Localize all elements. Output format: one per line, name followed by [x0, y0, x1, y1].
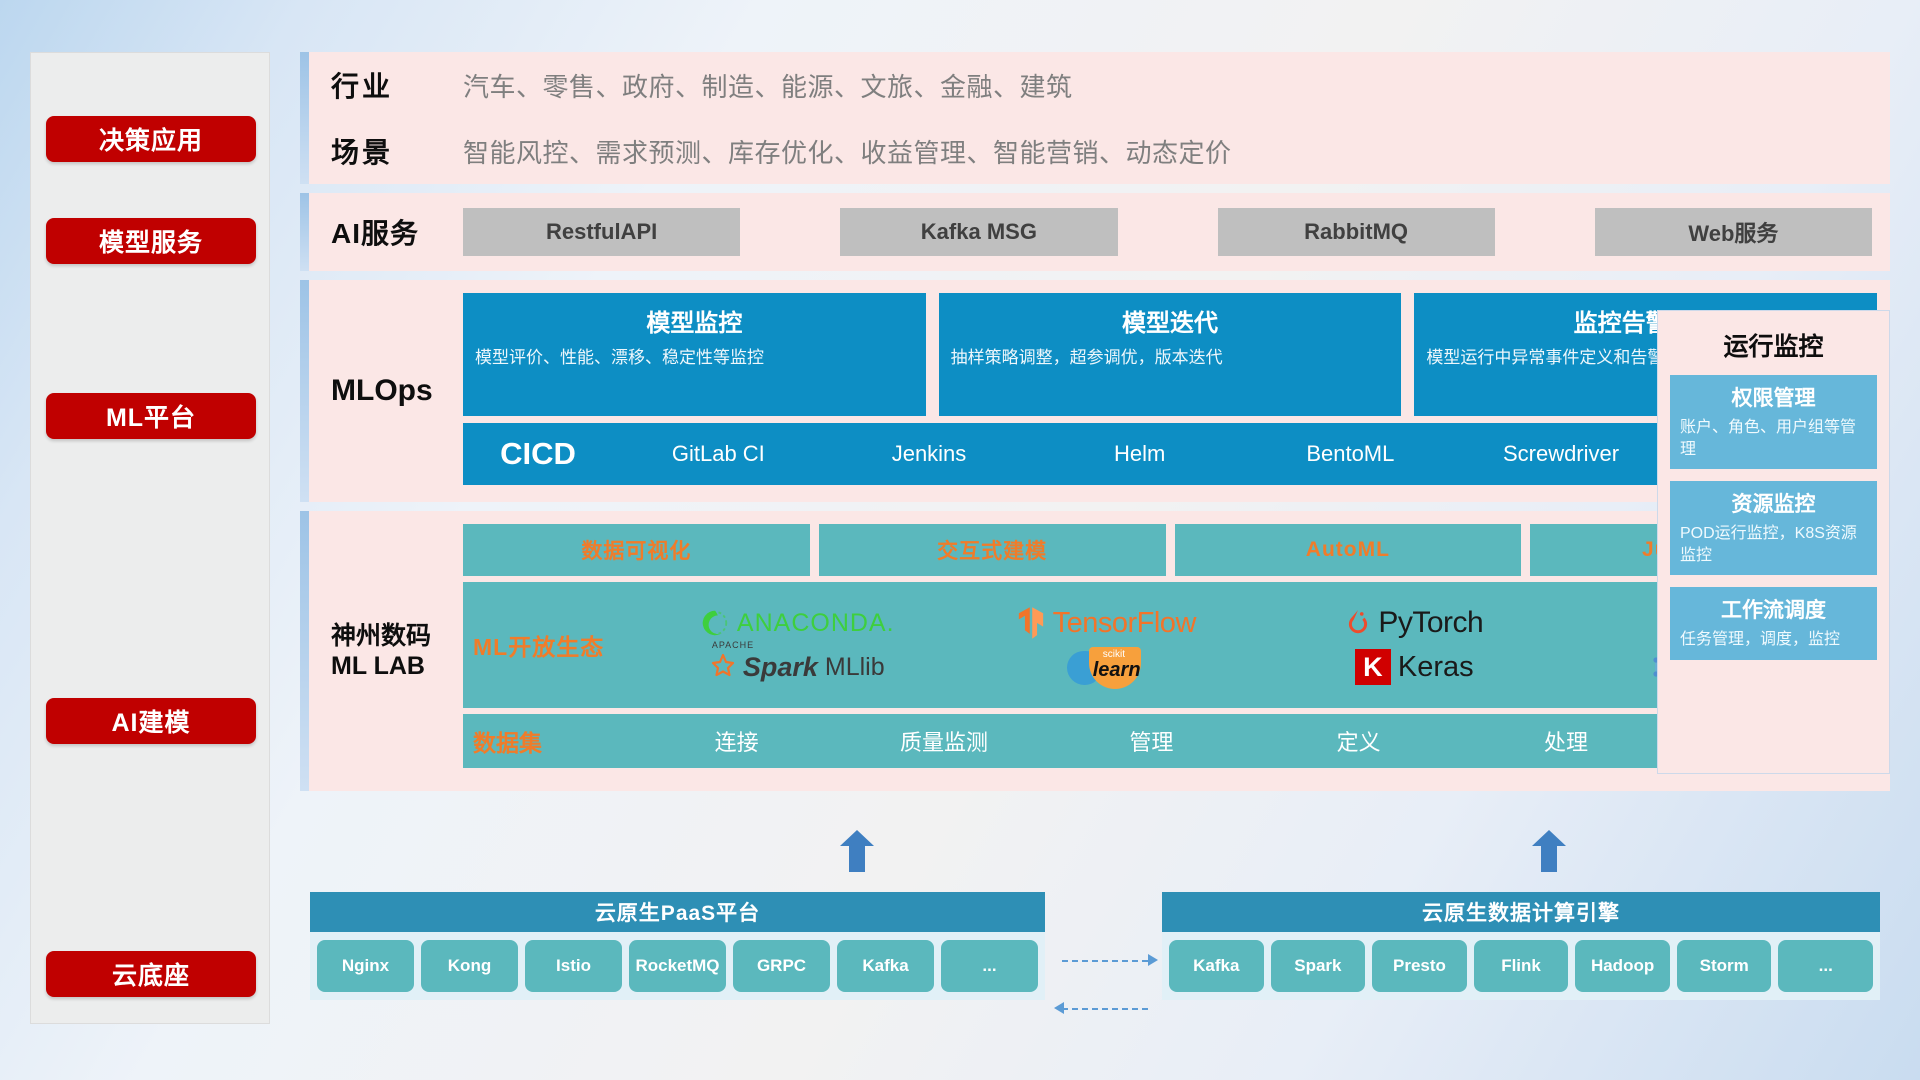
service-chip-kafka-msg[interactable]: Kafka MSG	[840, 208, 1117, 256]
tool-automl[interactable]: AutoML	[1175, 524, 1522, 576]
scenario-value: 智能风控、需求预测、库存优化、收益管理、智能营销、动态定价	[463, 133, 1232, 170]
dataset-item-process[interactable]: 处理	[1462, 725, 1669, 757]
engine-item-hadoop[interactable]: Hadoop	[1575, 940, 1670, 992]
cicd-tool-screwdriver[interactable]: Screwdriver	[1456, 440, 1667, 468]
paas-platform: 云原生PaaS平台 Nginx Kong Istio RocketMQ GRPC…	[310, 892, 1045, 1000]
ml-lab-label: 神州数码 ML LAB	[331, 524, 463, 778]
engine-item-presto[interactable]: Presto	[1372, 940, 1467, 992]
logo-text: Keras	[1398, 651, 1474, 684]
paas-item-rocketmq[interactable]: RocketMQ	[629, 940, 726, 992]
mlops-label: MLOps	[331, 293, 463, 489]
arrow-up-paas-icon	[840, 830, 874, 872]
logo-scikit-learn: scikit learn	[952, 645, 1261, 689]
spark-text: Spark	[743, 652, 818, 683]
monitor-card-workflow[interactable]: 工作流调度 任务管理，调度，监控	[1670, 587, 1877, 660]
logo-spark-mllib: APACHE Spark MLlib	[643, 652, 952, 683]
ml-lab-band: 神州数码 ML LAB 数据可视化 交互式建模 AutoML JupyterLa…	[300, 511, 1890, 791]
mlops-band: MLOps 模型监控 模型评价、性能、漂移、稳定性等监控 模型迭代 抽样策略调整…	[300, 280, 1890, 502]
card-title: 工作流调度	[1680, 594, 1867, 624]
rail-item-decision[interactable]: 决策应用	[46, 116, 256, 162]
rail-item-cloud-base[interactable]: 云底座	[46, 951, 256, 997]
paas-title: 云原生PaaS平台	[310, 892, 1045, 932]
cloud-foundation-section: 云原生PaaS平台 Nginx Kong Istio RocketMQ GRPC…	[300, 872, 1890, 1012]
scenario-label: 场景	[331, 131, 463, 171]
logo-text: TensorFlow	[1053, 607, 1196, 640]
mlops-card-model-monitoring[interactable]: 模型监控 模型评价、性能、漂移、稳定性等监控	[463, 293, 926, 416]
logo-pytorch: PyTorch	[1260, 606, 1569, 640]
monitor-card-resource[interactable]: 资源监控 POD运行监控，K8S资源监控	[1670, 481, 1877, 575]
ai-service-label: AI服务	[331, 212, 463, 252]
card-desc: 抽样策略调整，超参调优，版本迭代	[951, 346, 1390, 370]
scenario-row: 场景 智能风控、需求预测、库存优化、收益管理、智能营销、动态定价	[309, 118, 1890, 184]
runtime-monitor-panel: 运行监控 权限管理 账户、角色、用户组等管理 资源监控 POD运行监控，K8S资…	[1657, 310, 1890, 774]
industry-label: 行业	[331, 65, 463, 105]
logo-text: PyTorch	[1378, 606, 1483, 640]
rail-item-ai-modeling[interactable]: AI建模	[46, 698, 256, 744]
monitor-card-permission[interactable]: 权限管理 账户、角色、用户组等管理	[1670, 375, 1877, 469]
ai-service-band: AI服务 RestfulAPI Kafka MSG RabbitMQ Web服务	[300, 193, 1890, 271]
engine-item-more[interactable]: ...	[1778, 940, 1873, 992]
paas-item-grpc[interactable]: GRPC	[733, 940, 830, 992]
dataset-item-define[interactable]: 定义	[1255, 725, 1462, 757]
logo-text: ANACONDA.	[737, 609, 895, 638]
dataset-item-connect[interactable]: 连接	[633, 725, 840, 757]
engine-item-flink[interactable]: Flink	[1474, 940, 1569, 992]
card-desc: 账户、角色、用户组等管理	[1680, 417, 1867, 460]
cicd-label: CICD	[463, 436, 613, 472]
logo-text: MLlib	[825, 653, 885, 682]
logo-keras: K Keras	[1260, 649, 1569, 685]
dataset-item-quality[interactable]: 质量监测	[840, 725, 1047, 757]
pytorch-icon	[1345, 608, 1371, 638]
tool-data-visualization[interactable]: 数据可视化	[463, 524, 810, 576]
flow-arrow-right	[1062, 960, 1148, 962]
card-title: 模型迭代	[951, 303, 1390, 338]
arrow-up-engine-icon	[1532, 830, 1566, 872]
cicd-tool-helm[interactable]: Helm	[1034, 440, 1245, 468]
rail-item-ml-platform[interactable]: ML平台	[46, 393, 256, 439]
spark-icon: APACHE	[710, 654, 736, 680]
scikit-learn-icon: scikit learn	[1067, 645, 1145, 689]
ml-ecosystem-label: ML开放生态	[473, 628, 643, 662]
keras-icon: K	[1355, 649, 1391, 685]
ml-lab-label-line1: 神州数码	[331, 621, 463, 651]
tool-interactive-modeling[interactable]: 交互式建模	[819, 524, 1166, 576]
main-column: 行业 汽车、零售、政府、制造、能源、文旅、金融、建筑 场景 智能风控、需求预测、…	[300, 52, 1890, 800]
engine-title: 云原生数据计算引擎	[1162, 892, 1880, 932]
card-desc: 模型评价、性能、漂移、稳定性等监控	[475, 346, 914, 370]
spark-apache-text: APACHE	[712, 640, 754, 650]
cicd-tool-bentoml[interactable]: BentoML	[1245, 440, 1456, 468]
flow-arrow-left	[1062, 1008, 1148, 1010]
logo-anaconda: ANACONDA.	[643, 608, 952, 638]
tensorflow-icon	[1016, 606, 1046, 640]
service-chip-rabbitmq[interactable]: RabbitMQ	[1218, 208, 1495, 256]
dataset-label: 数据集	[463, 724, 633, 758]
mlops-card-model-iteration[interactable]: 模型迭代 抽样策略调整，超参调优，版本迭代	[939, 293, 1402, 416]
card-title: 权限管理	[1680, 382, 1867, 412]
data-compute-engine: 云原生数据计算引擎 Kafka Spark Presto Flink Hadoo…	[1162, 892, 1880, 1000]
card-title: 资源监控	[1680, 488, 1867, 518]
logo-text: learn	[1093, 659, 1141, 682]
paas-item-more[interactable]: ...	[941, 940, 1038, 992]
cicd-tool-jenkins[interactable]: Jenkins	[824, 440, 1035, 468]
paas-item-istio[interactable]: Istio	[525, 940, 622, 992]
card-title: 模型监控	[475, 303, 914, 338]
ai-service-list: RestfulAPI Kafka MSG RabbitMQ Web服务	[463, 208, 1872, 256]
service-chip-restfulapi[interactable]: RestfulAPI	[463, 208, 740, 256]
cicd-tool-gitlab-ci[interactable]: GitLab CI	[613, 440, 824, 468]
card-desc: 任务管理，调度，监控	[1680, 629, 1867, 651]
flow-arrow-right-head-icon	[1148, 954, 1158, 966]
engine-item-storm[interactable]: Storm	[1677, 940, 1772, 992]
paas-item-kong[interactable]: Kong	[421, 940, 518, 992]
layer-rail: 决策应用 模型服务 ML平台 AI建模 云底座	[30, 52, 270, 1024]
card-desc: POD运行监控，K8S资源监控	[1680, 523, 1867, 566]
decision-layer-band: 行业 汽车、零售、政府、制造、能源、文旅、金融、建筑 场景 智能风控、需求预测、…	[300, 52, 1890, 184]
ml-lab-label-line2: ML LAB	[331, 651, 463, 681]
logo-tensorflow: TensorFlow	[952, 606, 1261, 640]
engine-item-spark[interactable]: Spark	[1271, 940, 1366, 992]
engine-item-kafka[interactable]: Kafka	[1169, 940, 1264, 992]
industry-value: 汽车、零售、政府、制造、能源、文旅、金融、建筑	[463, 67, 1073, 104]
paas-item-nginx[interactable]: Nginx	[317, 940, 414, 992]
monitor-title: 运行监控	[1670, 327, 1877, 363]
paas-item-kafka[interactable]: Kafka	[837, 940, 934, 992]
anaconda-icon	[700, 608, 730, 638]
flow-arrow-left-head-icon	[1054, 1002, 1064, 1014]
dataset-item-manage[interactable]: 管理	[1048, 725, 1255, 757]
rail-item-model-service[interactable]: 模型服务	[46, 218, 256, 264]
service-chip-web[interactable]: Web服务	[1595, 208, 1872, 256]
industry-row: 行业 汽车、零售、政府、制造、能源、文旅、金融、建筑	[309, 52, 1890, 118]
architecture-diagram: 决策应用 模型服务 ML平台 AI建模 云底座 行业 汽车、零售、政府、制造、能…	[0, 0, 1920, 1080]
